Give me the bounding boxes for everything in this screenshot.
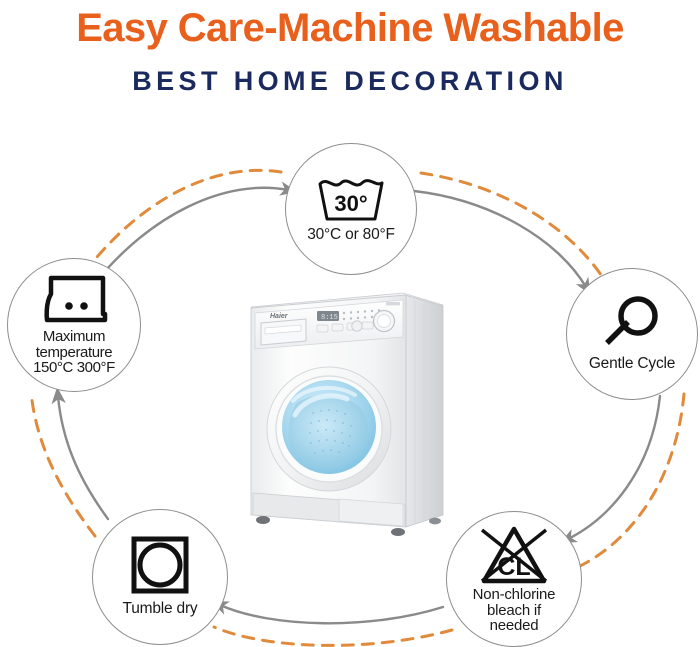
care-symbol-label: Non-chlorine bleach if needed — [473, 587, 556, 635]
care-symbol-label: Tumble dry — [123, 601, 198, 617]
arc-gentle-to-bleach — [568, 396, 660, 539]
washer-model-label — [386, 302, 400, 305]
washer-foot-rear — [429, 518, 441, 525]
washer-program-dial-center — [378, 315, 391, 328]
dashed-arc-wash-to-gentle — [421, 173, 616, 300]
washer-filter-hatch — [339, 499, 403, 526]
washer-foot-right — [391, 528, 405, 536]
arc-wash-to-gentle — [414, 191, 586, 287]
care-symbol-non-chlorine-bleach: CL Non-chlorine bleach if needed — [446, 511, 582, 647]
washer-small-dial[interactable] — [352, 321, 362, 331]
dashed-arc-tumble-to-iron — [31, 392, 95, 536]
care-symbol-label: 30°C or 80°F — [307, 227, 395, 243]
arc-bleach-to-tumble — [220, 605, 443, 623]
care-symbol-iron-max-temp: Maximum temperature 150°C 300°F — [7, 258, 141, 392]
care-symbol-label: Maximum temperature 150°C 300°F — [33, 329, 115, 377]
iron-icon — [37, 274, 111, 326]
washer-foot-left — [256, 516, 270, 524]
washer-brand-logo: Haier — [270, 313, 289, 320]
care-instructions-infographic: Easy Care-Machine Washable BEST HOME DEC… — [0, 0, 700, 647]
care-symbol-tumble-dry: Tumble dry — [92, 509, 228, 645]
washer-display-text: 8:15 — [321, 314, 338, 322]
dashed-arc-bleach-to-tumble — [214, 627, 452, 645]
washing-machine-image: Haier 8:15 — [243, 283, 448, 540]
arc-iron-to-wash — [95, 188, 288, 283]
wash-tub-icon: 30° — [314, 174, 388, 224]
gentle-cycle-icon — [601, 295, 663, 349]
no-chlorine-bleach-triangle-icon: CL — [477, 524, 551, 586]
care-symbol-wash-30: 30° 30°C or 80°F — [285, 143, 417, 275]
care-symbol-label: Gentle Cycle — [589, 356, 675, 372]
tumble-dry-icon — [130, 536, 190, 594]
care-symbol-gentle-cycle: Gentle Cycle — [566, 268, 698, 400]
arc-tumble-to-iron — [58, 396, 108, 519]
wash-tub-temperature-text: 30° — [334, 191, 367, 216]
